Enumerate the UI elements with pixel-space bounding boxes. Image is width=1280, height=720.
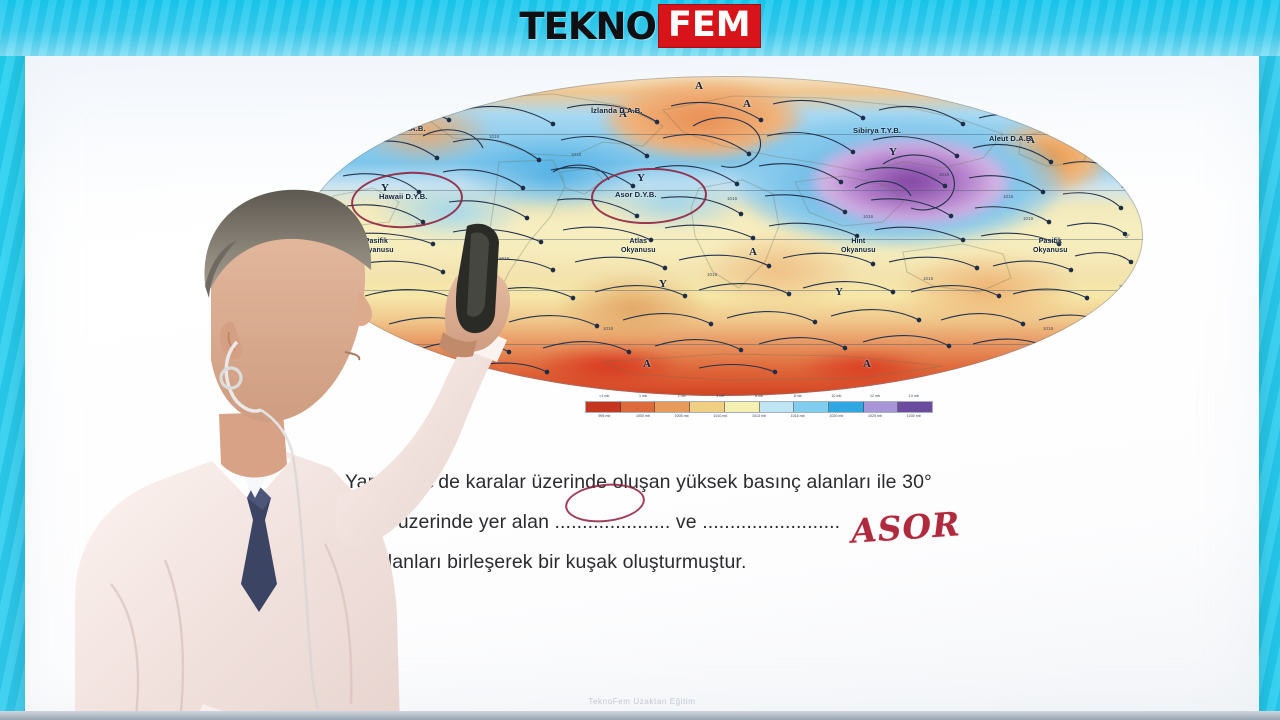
pressure-blob-iceland [603, 80, 803, 158]
high-symbol-iceland: A [619, 108, 627, 120]
map-label-iceland: İzlanda D.A.B. [591, 106, 642, 115]
isobar-value: 1016 [1043, 326, 1053, 331]
bottom-strip [0, 711, 1280, 720]
isobar-value: 1016 [707, 272, 717, 277]
legend-swatch [586, 402, 621, 412]
ocean-line-2: Okyanusu [621, 247, 656, 256]
high-symbol-antarctic1: A [643, 358, 651, 370]
latitude-line-60n [303, 134, 1143, 135]
logo-badge-fem: FEM [658, 4, 761, 48]
legend-bottom-label: 1000 mb [624, 414, 663, 421]
map-label-ocean-indian: Hint Okyanusu [841, 238, 876, 255]
legend-top-label: 8 mb [778, 394, 817, 401]
legend-bottom-label: 1010 mb [701, 414, 740, 421]
legend-swatch [621, 402, 656, 412]
isobar-value: 1016 [1003, 194, 1013, 199]
pressure-blob-australia [903, 254, 1073, 324]
legend-swatch [760, 402, 795, 412]
legend-swatch [829, 402, 864, 412]
low-symbol-siberia: Y [889, 146, 897, 158]
pressure-blob-south-a1 [539, 348, 679, 384]
legend-swatch [898, 402, 932, 412]
legend-top-label: <1 mb [585, 394, 624, 401]
pressure-blob-south-a2 [803, 352, 923, 384]
pressure-blob-africa [703, 234, 853, 306]
pressure-blob-siberia [811, 138, 1011, 226]
brand-logo: TEKNO FEM [519, 4, 760, 48]
video-frame: TEKNO FEM [0, 0, 1280, 720]
legend-top-label: 1 mb [624, 394, 663, 401]
legend-bottom-label: 1013 mb [740, 414, 779, 421]
isobar-value: 1016 [489, 134, 499, 139]
high-symbol-ne: A [743, 98, 751, 110]
legend-bottom-label: 1016 mb [778, 414, 817, 421]
ocean-line-1: Hint [841, 238, 876, 247]
legend-swatch [794, 402, 829, 412]
watermark-text: TeknoFem Uzaktan Eğitim [25, 697, 1259, 706]
pressure-blob-azor [603, 176, 743, 228]
map-label-aleut-left: Aleut D.A.B. [381, 124, 426, 133]
low-symbol-south3: Y [835, 286, 843, 298]
lat-tick-60n: 60° [1109, 128, 1117, 134]
isobar-value: 1016 [923, 276, 933, 281]
header-bar: TEKNO FEM [0, 0, 1280, 56]
high-symbol-africa: A [749, 246, 757, 258]
legend-swatch [864, 402, 899, 412]
logo-text-tekno: TEKNO [519, 8, 656, 45]
legend-top-label: 6 mb [740, 394, 779, 401]
legend-top-labels: <1 mb 1 mb 2 mb 4 mb 6 mb 8 mb 10 mb 12 … [585, 394, 933, 401]
legend-swatch [690, 402, 725, 412]
legend-top-label: 2 mb [662, 394, 701, 401]
map-label-ocean-pacific-right: Pasifik Okyanusu [1033, 238, 1068, 255]
legend-top-label: 12 mb [856, 394, 895, 401]
low-symbol-asor: Y [637, 172, 645, 184]
logo-text-fem: FEM [668, 5, 751, 45]
ocean-line-1: Atlas [621, 238, 656, 247]
high-symbol-aleut-right: A [1027, 134, 1035, 146]
legend-bottom-labels: 995 mb 1000 mb 1005 mb 1010 mb 1013 mb 1… [585, 414, 933, 421]
isobar-value: 1016 [727, 196, 737, 201]
low-symbol-north: Y [451, 82, 459, 94]
pressure-legend: <1 mb 1 mb 2 mb 4 mb 6 mb 8 mb 10 mb 12 … [585, 394, 933, 421]
legend-color-bar [585, 401, 933, 413]
legend-bottom-label: 1030 mb [894, 414, 933, 421]
lat-tick-30n: 30° [1121, 184, 1129, 190]
legend-swatch [655, 402, 690, 412]
ocean-line-1: Pasifik [1033, 238, 1068, 247]
lat-tick-60s: 60° [1103, 338, 1111, 344]
isobar-value: 1016 [939, 172, 949, 177]
map-label-asor: Asor D.Y.B. [615, 190, 657, 199]
map-label-aleut-right: Aleut D.A.B. [989, 134, 1034, 143]
low-symbol-south2: Y [659, 278, 667, 290]
legend-bottom-label: 1020 mb [817, 414, 856, 421]
legend-top-label: 4 mb [701, 394, 740, 401]
ocean-line-2: Okyanusu [1033, 247, 1068, 256]
legend-top-label: 10 mb [817, 394, 856, 401]
pressure-blob-asia [733, 116, 1063, 246]
pressure-blob-southamerica [563, 276, 703, 340]
legend-bottom-label: 1025 mb [856, 414, 895, 421]
lat-tick-30s: 30° [1119, 285, 1127, 291]
legend-bottom-label: 995 mb [585, 414, 624, 421]
annotation-circle-asor [590, 166, 708, 226]
map-label-siberia: Sibirya T.Y.B. [853, 126, 901, 135]
handwritten-answer: ASOR [850, 504, 962, 551]
presenter-figure [25, 164, 535, 720]
legend-bottom-label: 1005 mb [662, 414, 701, 421]
isobar-value: 1016 [863, 214, 873, 219]
high-symbol-antarctic2: A [863, 358, 871, 370]
high-symbol-iceland-top: A [695, 80, 703, 92]
legend-top-label: 14 mb [894, 394, 933, 401]
isobar-value: 1016 [603, 326, 613, 331]
ocean-line-2: Okyanusu [841, 247, 876, 256]
map-label-ocean-atlantic: Atlas Okyanusu [621, 238, 656, 255]
whiteboard-panel: Y A A A A Y Y Y A Y Y Y A A 1016 1016 10… [25, 44, 1259, 720]
isobar-value: 1016 [571, 152, 581, 157]
legend-swatch [725, 402, 760, 412]
isobar-value: 1016 [1023, 216, 1033, 221]
lat-tick-eq: 0° [1125, 234, 1130, 240]
